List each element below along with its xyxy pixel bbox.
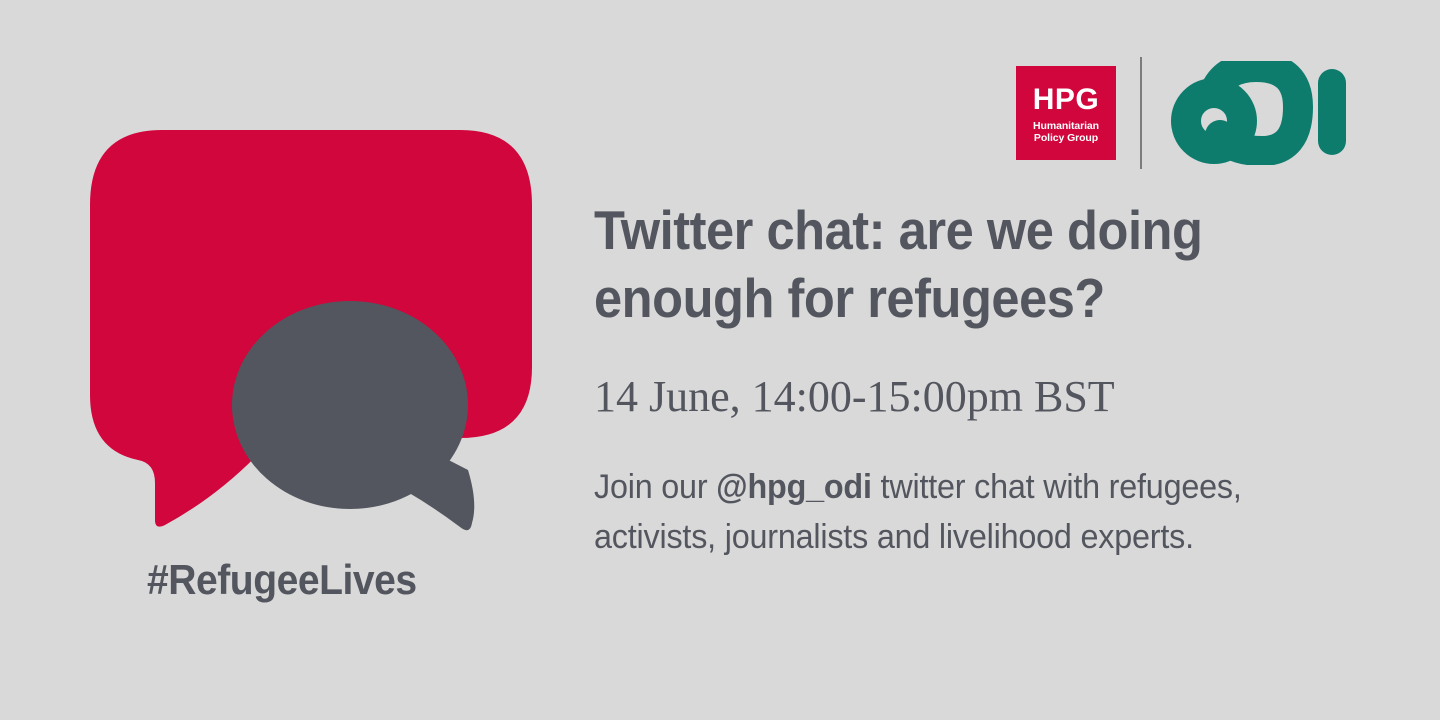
hpg-logo-subtitle-line1: Humanitarian [1033,120,1099,132]
promo-graphic: #RefugeeLives HPG Humanitarian Policy Gr… [0,0,1440,720]
twitter-handle: @hpg_odi [716,468,872,506]
hpg-logo-mark: HPG [1033,85,1100,115]
speech-bubbles-graphic [60,105,570,535]
odi-logo-i-bar [1318,69,1346,155]
page-title: Twitter chat: are we doing enough for re… [594,196,1266,332]
page-title-line-2: enough for refugees? [594,264,1266,332]
odi-logo-mark [1186,67,1298,151]
gray-speech-bubble-body [232,301,468,509]
text-block: Twitter chat: are we doing enough for re… [594,196,1324,562]
event-description: Join our @hpg_odi twitter chat with refu… [594,462,1288,562]
page-title-line-1: Twitter chat: are we doing [594,196,1266,264]
logo-bar: HPG Humanitarian Policy Group [1016,52,1366,174]
hashtag-label: #RefugeeLives [147,556,417,604]
event-description-prefix: Join our [594,468,716,506]
hpg-logo-subtitle-line2: Policy Group [1033,132,1099,144]
event-datetime: 14 June, 14:00-15:00pm BST [594,372,1324,422]
hpg-logo-subtitle: Humanitarian Policy Group [1033,120,1099,144]
hpg-logo: HPG Humanitarian Policy Group [1016,66,1116,160]
logo-divider [1140,57,1142,169]
odi-logo [1170,61,1348,165]
